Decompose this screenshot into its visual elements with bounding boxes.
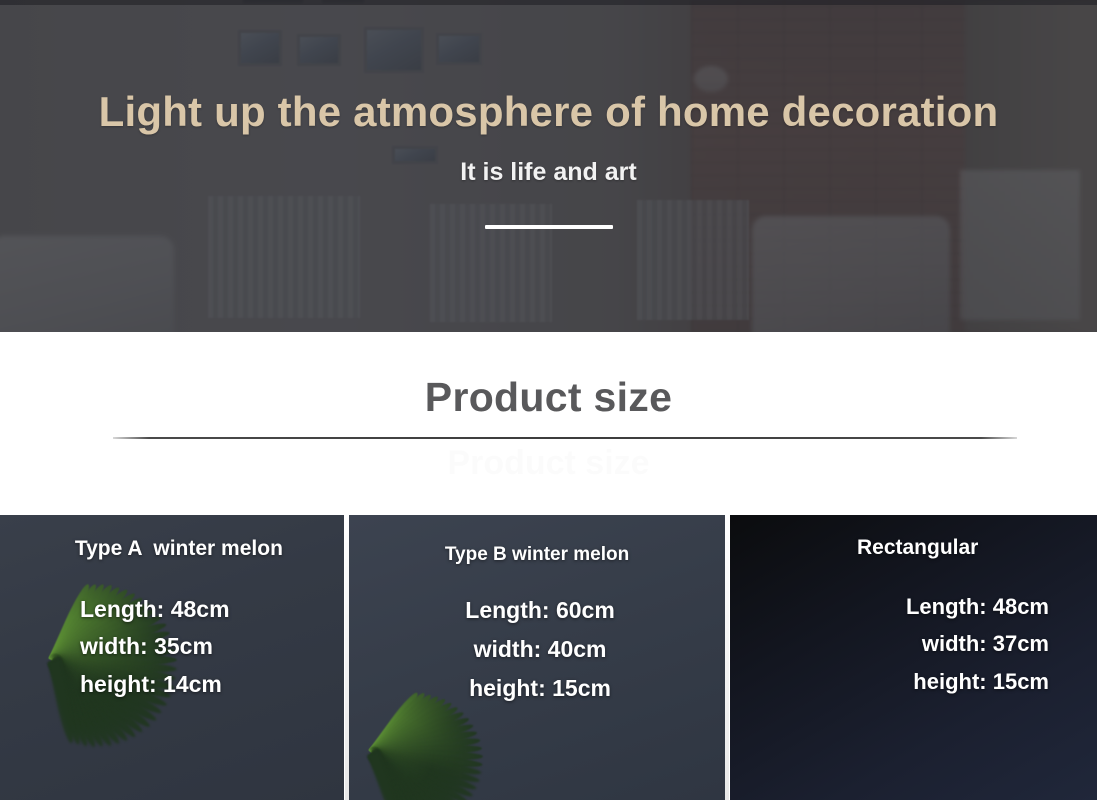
panel-rectangular[interactable]: Rectangular Length: 48cm width: 37cm hei… [730, 515, 1097, 800]
palm-leaf [372, 743, 481, 759]
palm-leaf [371, 714, 471, 759]
palm-leaf [370, 703, 460, 758]
panel-a-title: Type A winter melon [0, 537, 344, 561]
panel-b-length: Length: 60cm [354, 591, 727, 630]
palm-leaf [368, 751, 424, 800]
palm-leaf [370, 749, 469, 800]
palm-leaf [372, 748, 483, 770]
palm-leaf [373, 748, 483, 762]
hero-headline: Light up the atmosphere of home decorati… [99, 88, 999, 136]
palm-leaf [371, 720, 474, 758]
product-size-banner: Light up the atmosphere of home decorati… [0, 0, 1097, 800]
product-size-ghost-text: Product size [0, 444, 1097, 483]
product-size-section: Product size Product size [0, 332, 1097, 515]
panel-divider-2 [725, 515, 729, 800]
palm-leaf [368, 752, 404, 800]
palm-leaf [371, 748, 478, 793]
panel-b-title: Type B winter melon [348, 544, 727, 566]
panel-c-width: width: 37cm [730, 625, 1049, 662]
palm-leaf [368, 751, 417, 800]
hero-section: Light up the atmosphere of home decorati… [0, 0, 1097, 332]
hero-subheadline: It is life and art [460, 158, 636, 187]
hero-content: Light up the atmosphere of home decorati… [0, 0, 1097, 332]
palm-leaf [372, 735, 480, 759]
panel-b-height: height: 15cm [354, 669, 727, 708]
palm-leaf [370, 708, 465, 758]
panel-b-dimensions: Length: 60cm width: 40cm height: 15cm [348, 591, 727, 708]
product-size-rule [113, 437, 1017, 439]
palm-leaf [370, 749, 465, 800]
palm-leaf [369, 749, 452, 800]
panel-type-b[interactable]: Type B winter melon Length: 60cm width: … [348, 515, 727, 800]
palm-leaf [370, 749, 459, 800]
palm-leaf [371, 748, 480, 786]
panel-divider-1 [345, 515, 349, 800]
panel-a-height: height: 14cm [80, 666, 344, 703]
palm-leaf [372, 748, 482, 778]
palm-leaf [368, 751, 410, 800]
hero-divider-rule [485, 225, 613, 229]
product-size-panels: Type A winter melon Length: 48cm width: … [0, 515, 1097, 800]
panel-c-title: Rectangular [730, 536, 1097, 560]
palm-leaf [369, 750, 446, 800]
palm-leaf [371, 748, 474, 800]
panel-c-length: Length: 48cm [730, 588, 1049, 625]
panel-b-width: width: 40cm [354, 630, 727, 669]
panel-a-width: width: 35cm [80, 628, 344, 665]
panel-c-height: height: 15cm [730, 663, 1049, 700]
palm-leaf [372, 727, 478, 758]
product-size-heading: Product size [0, 374, 1097, 421]
panel-a-dimensions: Length: 48cm width: 35cm height: 14cm [0, 591, 344, 703]
panel-c-dimensions: Length: 48cm width: 37cm height: 15cm [730, 588, 1097, 700]
palm-leaf [368, 750, 431, 800]
panel-type-a[interactable]: Type A winter melon Length: 48cm width: … [0, 515, 344, 800]
palm-leaf [369, 750, 439, 800]
panel-a-length: Length: 48cm [80, 591, 344, 628]
